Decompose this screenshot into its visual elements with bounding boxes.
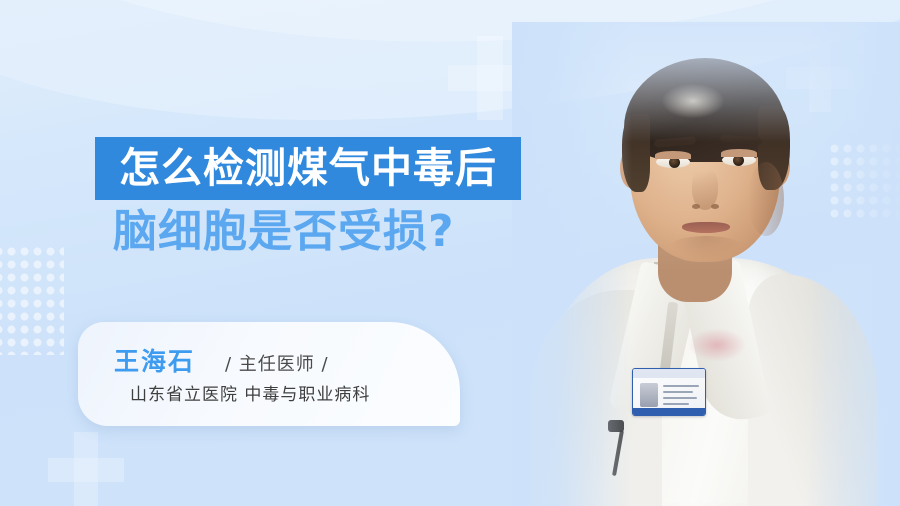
doctor-name: 王海石 bbox=[114, 342, 195, 378]
eyelid-left bbox=[655, 151, 691, 159]
nostril-left bbox=[692, 204, 700, 209]
mouth bbox=[682, 222, 730, 233]
video-thumbnail: 怎么检测煤气中毒后 脑细胞是否受损? 王海石 / 主任医师 / 山东省立医院 中… bbox=[0, 0, 900, 506]
eyelid-right bbox=[721, 149, 757, 157]
photo-fade-right bbox=[804, 22, 900, 506]
doctor-name-row: 王海石 / 主任医师 / bbox=[114, 342, 329, 378]
cheek-shadow bbox=[748, 162, 784, 236]
doctor-title: / 主任医师 / bbox=[225, 350, 329, 376]
doctor-affiliation: 山东省立医院 中毒与职业病科 bbox=[130, 380, 370, 405]
doctor-info-card: 王海石 / 主任医师 / 山东省立医院 中毒与职业病科 bbox=[78, 322, 460, 426]
coat-emblem-print bbox=[688, 328, 746, 362]
nostril-right bbox=[711, 204, 719, 209]
medical-cross-icon bbox=[48, 432, 124, 506]
headline-line-1-band: 怎么检测煤气中毒后 bbox=[95, 137, 521, 200]
headline-line-2-text: 脑细胞是否受损? bbox=[113, 210, 455, 254]
doctor-portrait-photo bbox=[512, 22, 900, 506]
dot-grid-pattern-left bbox=[0, 245, 64, 355]
photo-fade-left bbox=[512, 22, 632, 506]
hospital-id-badge bbox=[632, 368, 706, 416]
chin-shadow bbox=[668, 236, 744, 260]
headline-line-1-text: 怎么检测煤气中毒后 bbox=[119, 148, 497, 189]
